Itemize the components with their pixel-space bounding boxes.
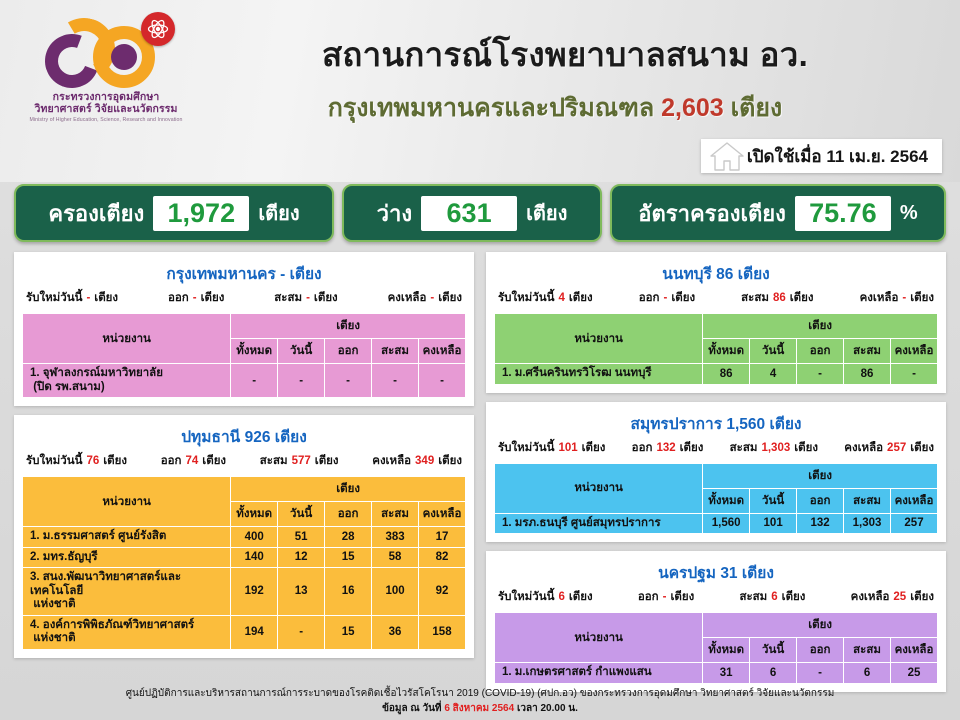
panel-stat-remaining: คงเหลือ-เตียง — [860, 289, 934, 307]
subtitle-total-beds: 2,603 — [661, 94, 724, 122]
col-header-today: วันนี้ — [278, 339, 325, 364]
col-header-total: ทั้งหมด — [703, 638, 750, 663]
panel-stat-discharged: ออก-เตียง — [168, 289, 224, 307]
panel-stat-label: ออก — [639, 289, 660, 307]
cell-agency-name-line2: (ปิด รพ.สนาม) — [30, 381, 105, 393]
cell-discharged: - — [797, 364, 844, 385]
panel-stat-discharged: ออก-เตียง — [638, 588, 694, 606]
page-title: สถานการณ์โรงพยาบาลสนาม อว. — [205, 28, 925, 81]
col-header-beds-group: เตียง — [703, 463, 938, 488]
panel-stat-value: 25 — [893, 591, 906, 603]
cell-agency-name: 1. ม.เกษตรศาสตร์ กำแพงแสน — [495, 663, 703, 684]
cell-cumulative: 383 — [372, 527, 419, 548]
panel-stat-unit: เตียง — [582, 439, 606, 457]
panel-beds-unit: เตียง — [738, 266, 770, 283]
cell-agency-name-line2: แห่งชาติ — [30, 632, 76, 644]
stat-vacant-beds: ว่าง 631 เตียง — [342, 184, 602, 242]
panel-beds-unit: เตียง — [275, 429, 307, 446]
cell-discharged: - — [797, 663, 844, 684]
col-header-remaining: คงเหลือ — [891, 488, 938, 513]
panel-stat-unit: เตียง — [910, 439, 934, 457]
logo-purple-dot — [111, 44, 137, 70]
table-header-row: หน่วยงานเตียง — [495, 613, 938, 638]
stat-occupied-value: 1,972 — [153, 196, 249, 231]
table-row: 1. ม.เกษตรศาสตร์ กำแพงแสน316-625 — [495, 663, 938, 684]
cell-discharged: 16 — [325, 568, 372, 616]
panel-stat-remaining: คงเหลือ349เตียง — [372, 452, 462, 470]
panel-stats-nonthaburi: รับใหม่วันนี้4เตียงออก-เตียงสะสม86เตียงค… — [494, 289, 938, 313]
panel-stat-unit: เตียง — [782, 588, 806, 606]
province-panel-pathumthani: ปทุมธานี 926 เตียงรับใหม่วันนี้76เตียงออ… — [14, 415, 474, 658]
panel-stat-value: - — [663, 591, 667, 603]
col-header-agency: หน่วยงาน — [495, 613, 703, 663]
footer-date-value: 6 สิงหาคม 2564 — [444, 703, 514, 714]
footer-date-suffix: เวลา 20.00 น. — [517, 703, 578, 714]
stat-rate-unit: % — [900, 202, 918, 225]
cell-discharged: 15 — [325, 615, 372, 649]
panel-stat-unit: เตียง — [670, 588, 694, 606]
col-header-beds-group: เตียง — [231, 314, 466, 339]
opened-date-banner: เปิดใช้เมื่อ 11 เม.ย. 2564 — [701, 139, 942, 173]
panel-stat-cumulative: สะสม577เตียง — [260, 452, 339, 470]
cell-today: 6 — [750, 663, 797, 684]
col-header-today: วันนี้ — [278, 502, 325, 527]
cell-total: - — [231, 364, 278, 398]
cell-cumulative: 36 — [372, 615, 419, 649]
col-header-beds-group: เตียง — [703, 314, 938, 339]
panel-stat-label: คงเหลือ — [851, 588, 890, 606]
cell-agency-name: 4. องค์การพิพิธภัณฑ์วิทยาศาสตร์ แห่งชาติ — [23, 615, 231, 649]
cell-today: 13 — [278, 568, 325, 616]
cell-discharged: 15 — [325, 547, 372, 568]
panel-stat-label: สะสม — [739, 588, 767, 606]
cell-remaining: 257 — [891, 513, 938, 534]
subtitle-unit: เตียง — [731, 94, 783, 122]
panel-stat-label: สะสม — [730, 439, 758, 457]
panel-stat-label: ออก — [168, 289, 189, 307]
opened-date-text: เปิดใช้เมื่อ 11 เม.ย. 2564 — [747, 143, 928, 170]
cell-agency-name: 1. จุฬาลงกรณ์มหาวิทยาลัย (ปิด รพ.สนาม) — [23, 364, 231, 398]
stat-vacant-unit: เตียง — [526, 197, 567, 229]
panel-stat-label: รับใหม่วันนี้ — [498, 439, 554, 457]
panel-stat-cumulative: สะสม-เตียง — [274, 289, 337, 307]
panel-stat-unit: เตียง — [569, 588, 593, 606]
col-header-today: วันนี้ — [750, 638, 797, 663]
panel-column-left: กรุงเทพมหานคร - เตียงรับใหม่วันนี้-เตียง… — [14, 252, 474, 692]
cell-cumulative: 58 — [372, 547, 419, 568]
cell-remaining: - — [891, 364, 938, 385]
cell-agency-name: 1. มรภ.ธนบุรี ศูนย์สมุทรปราการ — [495, 513, 703, 534]
panel-stat-label: รับใหม่วันนี้ — [26, 289, 82, 307]
panel-stat-unit: เตียง — [314, 289, 338, 307]
panel-stat-unit: เตียง — [790, 289, 814, 307]
province-panel-samutprakan: สมุทรปราการ 1,560 เตียงรับใหม่วันนี้101เ… — [486, 402, 946, 543]
panel-stat-unit: เตียง — [794, 439, 818, 457]
cell-today: - — [278, 615, 325, 649]
panel-stat-unit: เตียง — [202, 452, 226, 470]
panel-province-name: กรุงเทพมหานคร — [166, 266, 275, 283]
table-row: 2. มทร.ธัญบุรี14012155882 — [23, 547, 466, 568]
panel-stat-unit: เตียง — [680, 439, 704, 457]
panel-stat-unit: เตียง — [438, 452, 462, 470]
panel-stats-nakhonpathom: รับใหม่วันนี้6เตียงออก-เตียงสะสม6เตียงคง… — [494, 588, 938, 612]
panel-stat-new_today: รับใหม่วันนี้4เตียง — [498, 289, 593, 307]
col-header-total: ทั้งหมด — [231, 339, 278, 364]
panel-stat-label: ออก — [161, 452, 182, 470]
panel-stat-value: 6 — [558, 591, 564, 603]
logo-english-line: Ministry of Higher Education, Science, R… — [22, 116, 190, 124]
cell-remaining: 92 — [419, 568, 466, 616]
table-row: 4. องค์การพิพิธภัณฑ์วิทยาศาสตร์ แห่งชาติ… — [23, 615, 466, 649]
stat-rate-label: อัตราครองเตียง — [638, 196, 786, 231]
stat-occupied-beds: ครองเตียง 1,972 เตียง — [14, 184, 334, 242]
panel-stat-discharged: ออก132เตียง — [632, 439, 704, 457]
cell-agency-name: 2. มทร.ธัญบุรี — [23, 547, 231, 568]
table-row: 1. ม.ศรีนครินทรวิโรฒ นนทบุรี864-86- — [495, 364, 938, 385]
cell-agency-name-line2: แห่งชาติ — [30, 598, 76, 610]
panel-beds-unit: เตียง — [769, 416, 801, 433]
col-header-agency: หน่วยงาน — [495, 463, 703, 513]
panel-province-name: ปทุมธานี — [181, 429, 240, 446]
cell-remaining: 25 — [891, 663, 938, 684]
panel-stat-label: รับใหม่วันนี้ — [498, 289, 554, 307]
cell-cumulative: 1,303 — [844, 513, 891, 534]
panel-province-name: นครปฐม — [658, 565, 716, 582]
panel-stat-value: 86 — [773, 292, 786, 304]
panel-stat-remaining: คงเหลือ25เตียง — [851, 588, 934, 606]
panel-stat-label: ออก — [638, 588, 659, 606]
page-header: กระทรวงการอุดมศึกษา วิทยาศาสตร์ วิจัยและ… — [0, 0, 960, 182]
panel-stat-value: - — [86, 292, 90, 304]
col-header-remaining: คงเหลือ — [419, 502, 466, 527]
cell-agency-name: 1. ม.ธรรมศาสตร์ ศูนย์รังสิต — [23, 527, 231, 548]
col-header-today: วันนี้ — [750, 488, 797, 513]
col-header-cumulative: สะสม — [844, 488, 891, 513]
panel-stat-unit: เตียง — [103, 452, 127, 470]
col-header-beds-group: เตียง — [231, 477, 466, 502]
col-header-cumulative: สะสม — [372, 339, 419, 364]
col-header-remaining: คงเหลือ — [419, 339, 466, 364]
province-panel-bangkok: กรุงเทพมหานคร - เตียงรับใหม่วันนี้-เตียง… — [14, 252, 474, 406]
col-header-cumulative: สะสม — [844, 339, 891, 364]
panel-stat-label: สะสม — [260, 452, 288, 470]
panel-stat-value: 1,303 — [761, 442, 790, 454]
panel-total-beds: 1,560 — [726, 416, 765, 433]
stat-occupied-label: ครองเตียง — [48, 196, 144, 231]
panel-stat-discharged: ออก74เตียง — [161, 452, 226, 470]
cell-today: 101 — [750, 513, 797, 534]
col-header-total: ทั้งหมด — [703, 339, 750, 364]
panel-stat-value: - — [306, 292, 310, 304]
panel-total-beds: 31 — [720, 565, 737, 582]
panel-stat-value: 76 — [86, 455, 99, 467]
beds-table-nakhonpathom: หน่วยงานเตียงทั้งหมดวันนี้ออกสะสมคงเหลือ… — [494, 612, 938, 684]
panel-total-beds: 86 — [716, 266, 733, 283]
panel-stat-unit: เตียง — [910, 588, 934, 606]
panel-stat-value: 74 — [186, 455, 199, 467]
panel-stat-unit: เตียง — [569, 289, 593, 307]
beds-table-bangkok: หน่วยงานเตียงทั้งหมดวันนี้ออกสะสมคงเหลือ… — [22, 313, 466, 398]
panel-stat-label: ออก — [632, 439, 653, 457]
panel-beds-unit: เตียง — [742, 565, 774, 582]
cell-total: 400 — [231, 527, 278, 548]
panel-stat-unit: เตียง — [671, 289, 695, 307]
col-header-discharged: ออก — [797, 339, 844, 364]
col-header-cumulative: สะสม — [844, 638, 891, 663]
cell-total: 192 — [231, 568, 278, 616]
col-header-discharged: ออก — [797, 638, 844, 663]
panel-stat-label: คงเหลือ — [372, 452, 411, 470]
panel-title-bangkok: กรุงเทพมหานคร - เตียง — [22, 259, 466, 289]
panel-title-nakhonpathom: นครปฐม 31 เตียง — [494, 558, 938, 588]
panel-stat-cumulative: สะสม6เตียง — [739, 588, 805, 606]
page-footer: ศูนย์ปฏิบัติการและบริหารสถานการณ์การระบา… — [0, 686, 960, 716]
panel-stat-value: 577 — [292, 455, 311, 467]
panel-beds-unit: เตียง — [290, 266, 322, 283]
panel-stat-label: คงเหลือ — [388, 289, 427, 307]
panel-stat-remaining: คงเหลือ257เตียง — [844, 439, 934, 457]
cell-cumulative: 86 — [844, 364, 891, 385]
panel-stat-unit: เตียง — [94, 289, 118, 307]
table-header-row: หน่วยงานเตียง — [23, 477, 466, 502]
logo-thai-line2: วิทยาศาสตร์ วิจัยและนวัตกรรม — [22, 103, 190, 115]
panel-title-pathumthani: ปทุมธานี 926 เตียง — [22, 422, 466, 452]
panel-stat-unit: เตียง — [910, 289, 934, 307]
cell-remaining: - — [419, 364, 466, 398]
panel-stat-value: 349 — [415, 455, 434, 467]
cell-agency-name: 1. ม.ศรีนครินทรวิโรฒ นนทบุรี — [495, 364, 703, 385]
cell-cumulative: 100 — [372, 568, 419, 616]
col-header-agency: หน่วยงาน — [23, 477, 231, 527]
panel-stat-value: - — [430, 292, 434, 304]
table-header-row: หน่วยงานเตียง — [495, 463, 938, 488]
beds-table-pathumthani: หน่วยงานเตียงทั้งหมดวันนี้ออกสะสมคงเหลือ… — [22, 476, 466, 650]
beds-table-nonthaburi: หน่วยงานเตียงทั้งหมดวันนี้ออกสะสมคงเหลือ… — [494, 313, 938, 385]
panel-province-name: สมุทรปราการ — [631, 416, 723, 433]
footer-organisation-line: ศูนย์ปฏิบัติการและบริหารสถานการณ์การระบา… — [0, 686, 960, 701]
cell-remaining: 158 — [419, 615, 466, 649]
panel-stat-value: 101 — [558, 442, 577, 454]
province-panel-nakhonpathom: นครปฐม 31 เตียงรับใหม่วันนี้6เตียงออก-เต… — [486, 551, 946, 692]
footer-date-prefix: ข้อมูล ณ วันที่ — [382, 703, 441, 714]
col-header-discharged: ออก — [325, 339, 372, 364]
col-header-remaining: คงเหลือ — [891, 339, 938, 364]
panel-stat-value: - — [902, 292, 906, 304]
col-header-remaining: คงเหลือ — [891, 638, 938, 663]
panel-stat-new_today: รับใหม่วันนี้-เตียง — [26, 289, 118, 307]
panel-stat-discharged: ออก-เตียง — [639, 289, 695, 307]
cell-cumulative: 6 — [844, 663, 891, 684]
stat-occupied-unit: เตียง — [258, 197, 299, 229]
panel-stat-value: 132 — [656, 442, 675, 454]
panel-stat-value: - — [193, 292, 197, 304]
panel-stat-new_today: รับใหม่วันนี้6เตียง — [498, 588, 593, 606]
panel-stat-label: คงเหลือ — [860, 289, 899, 307]
panel-stat-label: รับใหม่วันนี้ — [26, 452, 82, 470]
panel-total-beds: 926 — [245, 429, 271, 446]
atom-icon — [141, 12, 175, 46]
col-header-cumulative: สะสม — [372, 502, 419, 527]
col-header-total: ทั้งหมด — [703, 488, 750, 513]
cell-today: 4 — [750, 364, 797, 385]
cell-total: 86 — [703, 364, 750, 385]
panel-stats-pathumthani: รับใหม่วันนี้76เตียงออก74เตียงสะสม577เตี… — [22, 452, 466, 476]
panel-stat-label: สะสม — [741, 289, 769, 307]
col-header-beds-group: เตียง — [703, 613, 938, 638]
panel-total-beds: - — [280, 266, 285, 283]
cell-discharged: 132 — [797, 513, 844, 534]
cell-total: 194 — [231, 615, 278, 649]
cell-total: 31 — [703, 663, 750, 684]
table-row: 3. สนง.พัฒนาวิทยาศาสตร์และเทคโนโลยี แห่ง… — [23, 568, 466, 616]
cell-remaining: 82 — [419, 547, 466, 568]
panel-stat-cumulative: สะสม86เตียง — [741, 289, 813, 307]
logo-mark-icon — [31, 12, 181, 90]
col-header-agency: หน่วยงาน — [23, 314, 231, 364]
panel-stat-unit: เตียง — [315, 452, 339, 470]
cell-agency-name: 3. สนง.พัฒนาวิทยาศาสตร์และเทคโนโลยี แห่ง… — [23, 568, 231, 616]
panel-stat-unit: เตียง — [438, 289, 462, 307]
panel-stat-label: สะสม — [274, 289, 302, 307]
panel-stat-new_today: รับใหม่วันนี้76เตียง — [26, 452, 127, 470]
page-subtitle: กรุงเทพมหานครและปริมณฑล 2,603 เตียง — [205, 88, 905, 128]
footer-data-timestamp: ข้อมูล ณ วันที่ 6 สิงหาคม 2564 เวลา 20.0… — [0, 701, 960, 716]
stat-vacant-label: ว่าง — [377, 196, 412, 231]
panel-title-nonthaburi: นนทบุรี 86 เตียง — [494, 259, 938, 289]
beds-table-samutprakan: หน่วยงานเตียงทั้งหมดวันนี้ออกสะสมคงเหลือ… — [494, 463, 938, 535]
table-row: 1. มรภ.ธนบุรี ศูนย์สมุทรปราการ1,56010113… — [495, 513, 938, 534]
panel-stats-bangkok: รับใหม่วันนี้-เตียงออก-เตียงสะสม-เตียงคง… — [22, 289, 466, 313]
panel-stat-value: - — [663, 292, 667, 304]
panel-stats-samutprakan: รับใหม่วันนี้101เตียงออก132เตียงสะสม1,30… — [494, 439, 938, 463]
logo-thai-line1: กระทรวงการอุดมศึกษา — [22, 91, 190, 103]
panel-column-right: นนทบุรี 86 เตียงรับใหม่วันนี้4เตียงออก-เ… — [486, 252, 946, 692]
cell-discharged: 28 — [325, 527, 372, 548]
panel-stat-unit: เตียง — [201, 289, 225, 307]
summary-stat-bar: ครองเตียง 1,972 เตียง ว่าง 631 เตียง อัต… — [14, 184, 946, 242]
panel-stat-new_today: รับใหม่วันนี้101เตียง — [498, 439, 605, 457]
cell-cumulative: - — [372, 364, 419, 398]
panel-stat-value: 257 — [887, 442, 906, 454]
table-header-row: หน่วยงานเตียง — [23, 314, 466, 339]
stat-occupancy-rate: อัตราครองเตียง 75.76 % — [610, 184, 946, 242]
col-header-total: ทั้งหมด — [231, 502, 278, 527]
col-header-discharged: ออก — [325, 502, 372, 527]
province-panels: กรุงเทพมหานคร - เตียงรับใหม่วันนี้-เตียง… — [14, 252, 946, 692]
table-header-row: หน่วยงานเตียง — [495, 314, 938, 339]
house-icon — [709, 141, 745, 176]
stat-rate-value: 75.76 — [795, 196, 891, 231]
panel-province-name: นนทบุรี — [662, 266, 712, 283]
stat-vacant-value: 631 — [421, 196, 517, 231]
cell-today: - — [278, 364, 325, 398]
panel-stat-value: 4 — [558, 292, 564, 304]
panel-stat-remaining: คงเหลือ-เตียง — [388, 289, 462, 307]
province-panel-nonthaburi: นนทบุรี 86 เตียงรับใหม่วันนี้4เตียงออก-เ… — [486, 252, 946, 393]
panel-stat-cumulative: สะสม1,303เตียง — [730, 439, 818, 457]
cell-today: 51 — [278, 527, 325, 548]
col-header-today: วันนี้ — [750, 339, 797, 364]
cell-total: 1,560 — [703, 513, 750, 534]
col-header-discharged: ออก — [797, 488, 844, 513]
panel-stat-label: รับใหม่วันนี้ — [498, 588, 554, 606]
panel-title-samutprakan: สมุทรปราการ 1,560 เตียง — [494, 409, 938, 439]
panel-stat-value: 6 — [771, 591, 777, 603]
col-header-agency: หน่วยงาน — [495, 314, 703, 364]
cell-discharged: - — [325, 364, 372, 398]
subtitle-region: กรุงเทพมหานครและปริมณฑล — [328, 94, 654, 122]
table-row: 1. จุฬาลงกรณ์มหาวิทยาลัย (ปิด รพ.สนาม)--… — [23, 364, 466, 398]
ministry-logo: กระทรวงการอุดมศึกษา วิทยาศาสตร์ วิจัยและ… — [22, 8, 190, 126]
cell-total: 140 — [231, 547, 278, 568]
table-row: 1. ม.ธรรมศาสตร์ ศูนย์รังสิต400512838317 — [23, 527, 466, 548]
cell-remaining: 17 — [419, 527, 466, 548]
panel-stat-label: คงเหลือ — [844, 439, 883, 457]
cell-today: 12 — [278, 547, 325, 568]
